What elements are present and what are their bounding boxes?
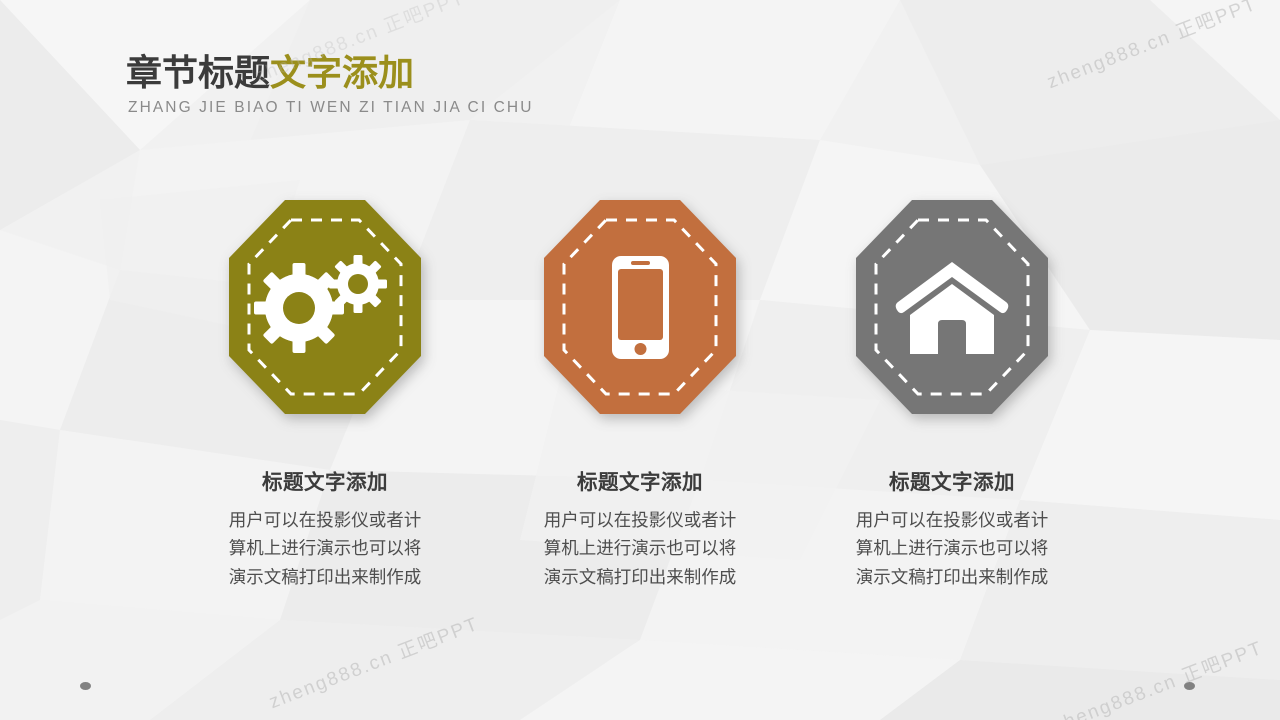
- page-title-primary: 章节标题: [126, 52, 270, 93]
- badge-octagon-smartphone[interactable]: [542, 198, 738, 416]
- body-line: 演示文稿打印出来制作成: [484, 563, 796, 591]
- body-line: 用户可以在投影仪或者计: [169, 506, 481, 534]
- badge-octagon-home[interactable]: [854, 198, 1050, 416]
- octagon-shape: [542, 198, 738, 416]
- body-line: 演示文稿打印出来制作成: [169, 563, 481, 591]
- column-body: 用户可以在投影仪或者计 算机上进行演示也可以将 演示文稿打印出来制作成: [796, 506, 1108, 591]
- octagon-shape: [227, 198, 423, 416]
- column-heading: 标题文字添加: [796, 465, 1108, 495]
- feature-columns: 标题文字添加 用户可以在投影仪或者计 算机上进行演示也可以将 演示文稿打印出来制…: [0, 198, 1280, 618]
- page-title-accent: 文字添加: [270, 52, 414, 93]
- column-heading: 标题文字添加: [169, 465, 481, 495]
- presentation-slide: 章节标题文字添加 ZHANG JIE BIAO TI WEN ZI TIAN J…: [0, 0, 1280, 720]
- badge-octagon-gears[interactable]: [227, 198, 423, 416]
- octagon-shape: [854, 198, 1050, 416]
- column-body: 用户可以在投影仪或者计 算机上进行演示也可以将 演示文稿打印出来制作成: [169, 506, 481, 591]
- page-title: 章节标题文字添加: [126, 52, 534, 93]
- body-line: 算机上进行演示也可以将: [169, 534, 481, 562]
- body-line: 算机上进行演示也可以将: [796, 534, 1108, 562]
- feature-column: 标题文字添加 用户可以在投影仪或者计 算机上进行演示也可以将 演示文稿打印出来制…: [169, 198, 481, 591]
- body-line: 用户可以在投影仪或者计: [484, 506, 796, 534]
- page-dot-right: [1184, 682, 1195, 690]
- feature-column: 标题文字添加 用户可以在投影仪或者计 算机上进行演示也可以将 演示文稿打印出来制…: [484, 198, 796, 591]
- smartphone-icon: [612, 256, 669, 359]
- body-line: 算机上进行演示也可以将: [484, 534, 796, 562]
- title-block: 章节标题文字添加 ZHANG JIE BIAO TI WEN ZI TIAN J…: [126, 52, 534, 117]
- column-body: 用户可以在投影仪或者计 算机上进行演示也可以将 演示文稿打印出来制作成: [484, 506, 796, 591]
- page-dot-left: [80, 682, 91, 690]
- body-line: 用户可以在投影仪或者计: [796, 506, 1108, 534]
- column-heading: 标题文字添加: [484, 465, 796, 495]
- body-line: 演示文稿打印出来制作成: [796, 563, 1108, 591]
- page-subtitle: ZHANG JIE BIAO TI WEN ZI TIAN JIA CI CHU: [128, 99, 534, 117]
- feature-column: 标题文字添加 用户可以在投影仪或者计 算机上进行演示也可以将 演示文稿打印出来制…: [796, 198, 1108, 591]
